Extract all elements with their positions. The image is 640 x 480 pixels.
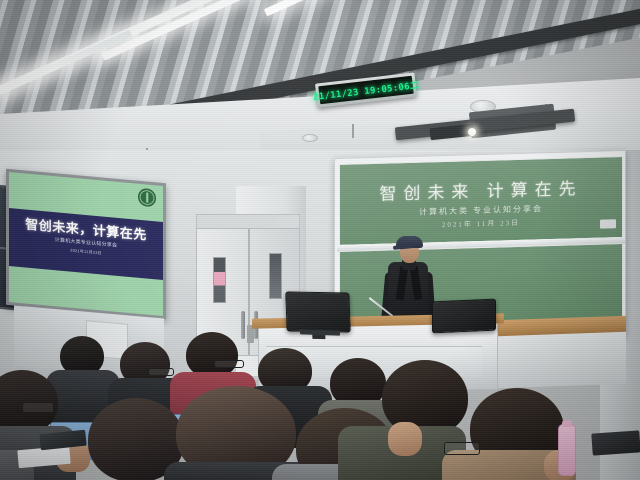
student-hand [388, 422, 422, 456]
projection-screen: 智创未来，计算在先 计算机大类专业认知分享会 2021年11月23日 [6, 169, 166, 320]
lectern-monitor[interactable] [285, 291, 350, 332]
door-transom [196, 214, 300, 229]
door-vision-panel [213, 257, 226, 303]
slide-surface: 智创未来，计算在先 计算机大类专业认知分享会 2021年11月23日 [9, 172, 163, 316]
ceiling-speaker-icon [302, 134, 318, 142]
blackboard-headline: 智创未来 计算在先 [340, 173, 622, 206]
laptop[interactable] [591, 430, 640, 455]
eyeglasses [444, 442, 480, 455]
door-vision-panel [269, 253, 282, 299]
water-bottle[interactable] [558, 424, 576, 476]
blackboard-corner-tag [600, 219, 616, 228]
blackboard-upper-panel: 智创未来 计算在先 计算机大类 专业认知分享会 2021年 11月 23日 [339, 156, 623, 246]
eyeglasses [214, 360, 244, 368]
lecture-hall-photo: 21/11/23 19:05:06二 智创未来，计算在先 计算机大类专业认知分享… [0, 0, 640, 480]
audience-area [0, 330, 640, 480]
university-emblem-icon [138, 188, 156, 208]
side-desk-monitor[interactable] [432, 299, 496, 334]
eyeglasses [22, 402, 54, 413]
projector-lens-icon [468, 128, 476, 136]
eyeglasses [148, 368, 174, 376]
ceiling-hanger-rod [352, 124, 354, 138]
